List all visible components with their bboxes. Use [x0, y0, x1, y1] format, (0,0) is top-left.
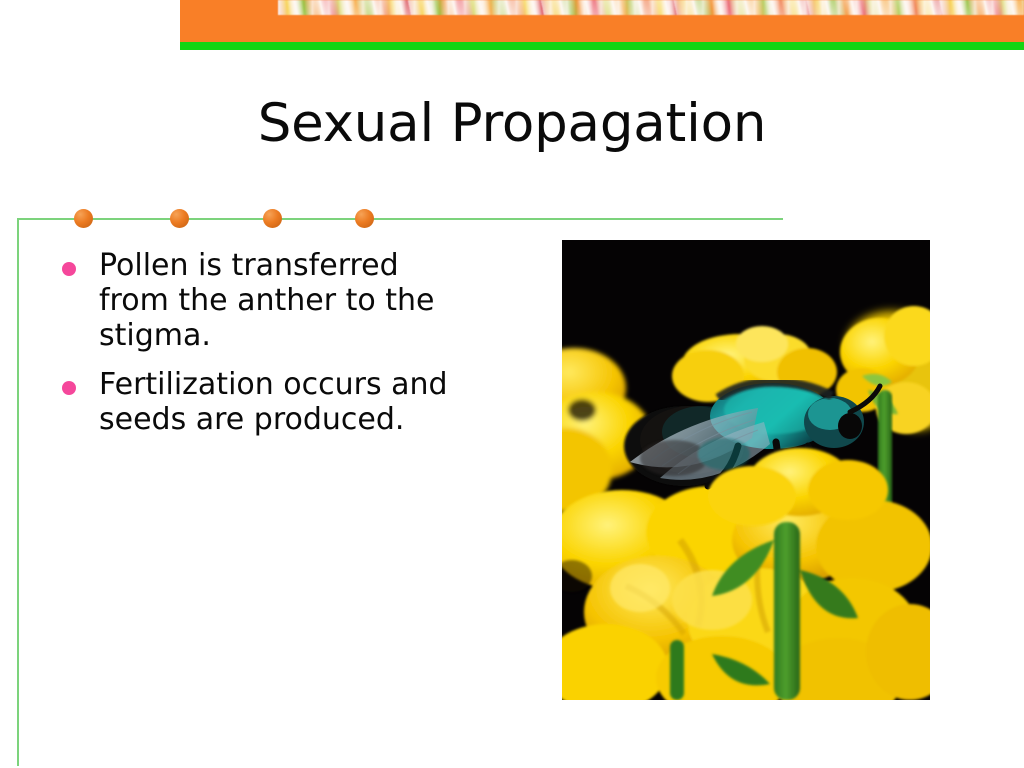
bee-on-flower-photo — [562, 240, 930, 700]
divider-vertical-line — [17, 218, 19, 766]
slide-canvas: Sexual Propagation Pollen is transferred… — [0, 0, 1024, 768]
list-item: Fertilization occurs and seeds are produ… — [62, 367, 492, 437]
bullet-text: Fertilization occurs and seeds are produ… — [99, 367, 471, 437]
page-title: Sexual Propagation — [0, 95, 1024, 153]
list-item: Pollen is transferred from the anther to… — [62, 248, 492, 353]
header-green-bar — [180, 42, 1024, 50]
bullet-text: Pollen is transferred from the anther to… — [99, 248, 471, 353]
decorative-dot-4 — [355, 209, 374, 228]
header-photo-strip — [278, 0, 1024, 15]
photo-illustration — [562, 240, 930, 700]
decorative-dot-2 — [170, 209, 189, 228]
bullet-dot-icon — [62, 262, 76, 276]
bullet-dot-icon — [62, 381, 76, 395]
bullet-list: Pollen is transferred from the anther to… — [62, 248, 492, 451]
decorative-dot-3 — [263, 209, 282, 228]
divider-horizontal-line — [17, 218, 783, 220]
decorative-dot-1 — [74, 209, 93, 228]
